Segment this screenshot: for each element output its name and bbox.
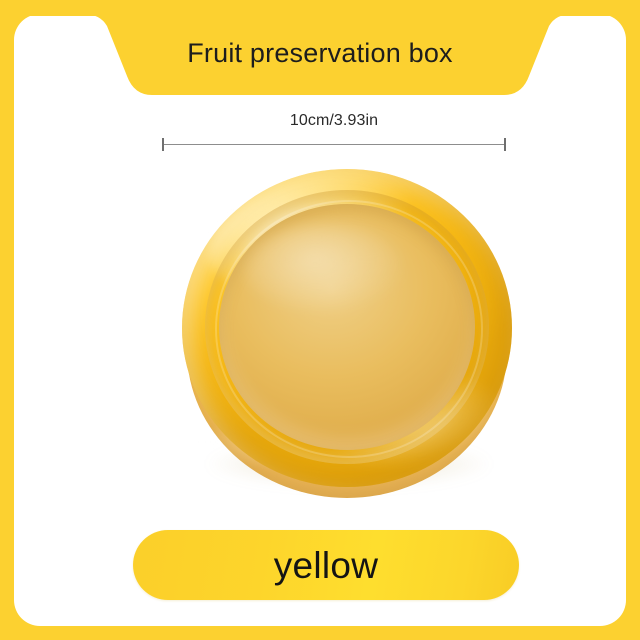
dimension-annotation: 10cm/3.93in	[162, 112, 506, 152]
header-tab: Fruit preservation box	[0, 0, 640, 97]
color-swatch-label: yellow	[274, 547, 379, 584]
dimension-label: 10cm/3.93in	[162, 112, 506, 130]
page-title: Fruit preservation box	[0, 0, 640, 97]
dimension-line	[162, 144, 506, 145]
product-illustration	[179, 166, 519, 506]
dimension-tick-right	[504, 138, 506, 151]
dimension-ruler-line	[162, 138, 506, 152]
inner-panel-rim-line	[215, 200, 483, 458]
color-swatch-pill[interactable]: yellow	[133, 530, 519, 600]
dimension-tick-left	[162, 138, 164, 151]
product-image-canvas: Fruit preservation box 10cm/3.93in yello…	[0, 0, 640, 640]
